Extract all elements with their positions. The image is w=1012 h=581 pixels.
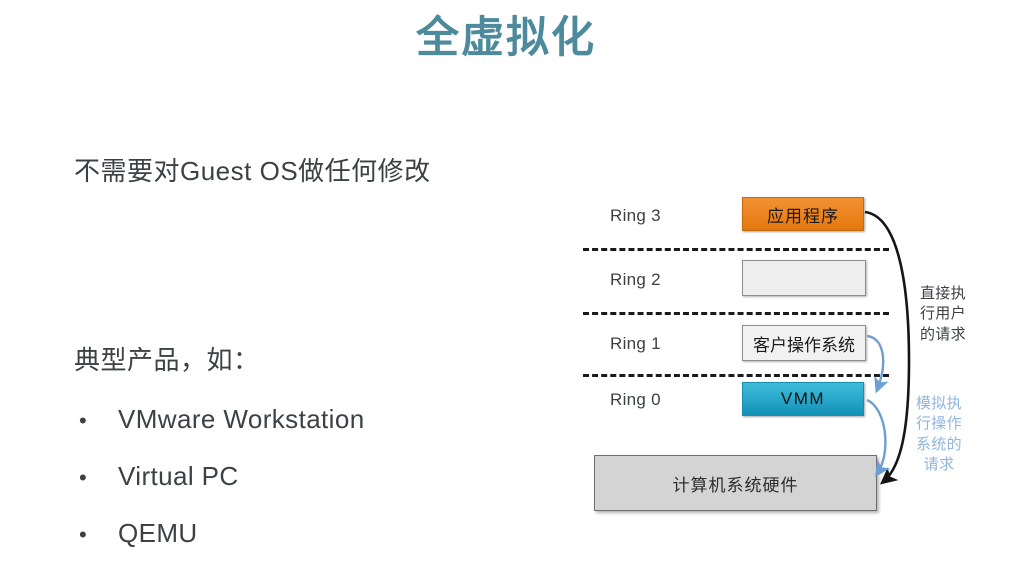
bullet-dot-icon: • bbox=[74, 467, 118, 489]
box-ring2-empty bbox=[742, 260, 866, 296]
ring-label-2: Ring 2 bbox=[610, 270, 661, 290]
ring-label-3: Ring 3 bbox=[610, 206, 661, 226]
bullet-label-qemu: QEMU bbox=[118, 518, 198, 549]
box-guest-os: 客户操作系统 bbox=[742, 325, 866, 361]
bullet-label-virtual-pc: Virtual PC bbox=[118, 461, 239, 492]
bullet-dot-icon: • bbox=[74, 524, 118, 546]
box-application: 应用程序 bbox=[742, 197, 864, 231]
list-item: • Virtual PC bbox=[74, 461, 544, 492]
arrow-direct-execution bbox=[865, 212, 909, 482]
annotation-direct-execution: 直接执 行用户 的请求 bbox=[920, 284, 966, 345]
ring-separator-2-1 bbox=[583, 312, 889, 315]
headline-typical-products: 典型产品，如： bbox=[74, 344, 544, 378]
list-item: • VMware Workstation bbox=[74, 404, 544, 435]
arrow-guest-os-to-vmm bbox=[867, 336, 883, 390]
bullet-label-vmware-workstation: VMware Workstation bbox=[118, 404, 365, 435]
bullet-dot-icon: • bbox=[74, 410, 118, 432]
box-vmm: VMM bbox=[742, 382, 864, 416]
ring-architecture-diagram: Ring 3 Ring 2 Ring 1 Ring 0 应用程序 客户操作系统 … bbox=[578, 186, 1012, 526]
headline-no-guest-os-modification: 不需要对Guest OS做任何修改 bbox=[74, 155, 544, 189]
ring-label-0: Ring 0 bbox=[610, 390, 661, 410]
page-title: 全虚拟化 bbox=[0, 14, 1012, 63]
annotation-emulated-execution: 模拟执 行操作 系统的 请求 bbox=[916, 394, 962, 475]
box-computer-hardware: 计算机系统硬件 bbox=[594, 455, 877, 511]
list-item: • QEMU bbox=[74, 518, 544, 549]
ring-label-1: Ring 1 bbox=[610, 334, 661, 354]
ring-separator-1-0 bbox=[583, 374, 889, 377]
ring-separator-3-2 bbox=[583, 248, 889, 251]
left-content-column: 不需要对Guest OS做任何修改 典型产品，如： • VMware Works… bbox=[74, 155, 544, 549]
